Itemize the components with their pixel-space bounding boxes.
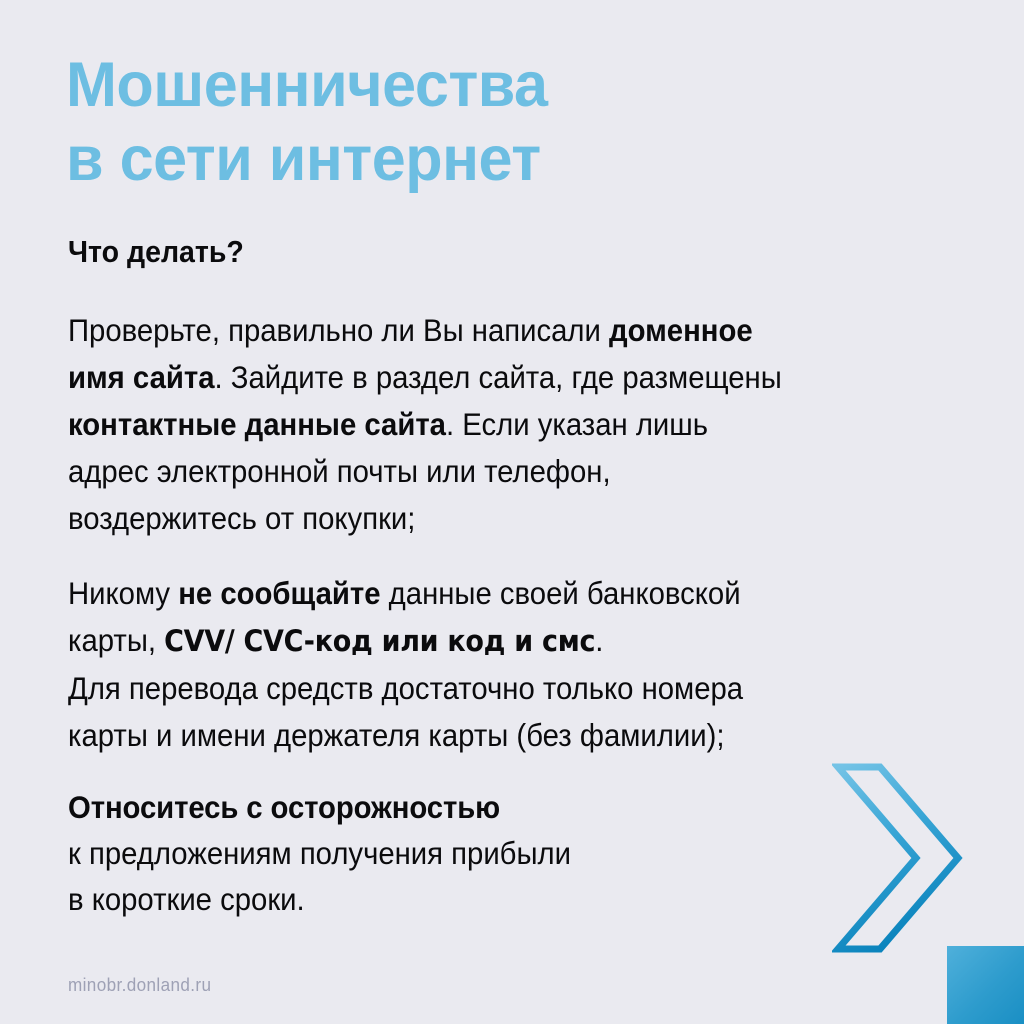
- footer-site-url: minobr.donland.ru: [68, 975, 211, 996]
- p2-l1-text-tail: данные своей банковской: [381, 575, 741, 611]
- advice-paragraph-3: Относитесь с осторожностью к предложения…: [68, 784, 933, 922]
- paragraph-1-line-1: Проверьте, правильно ли Вы написали доме…: [68, 307, 933, 354]
- paragraph-2-line-4: карты и имени держателя карты (без фамил…: [68, 712, 933, 759]
- paragraph-1-line-5: воздержитесь от покупки;: [68, 495, 933, 542]
- p2-l2-emphasis-cvv: CVV/ CVC-код или код и смс: [164, 624, 595, 658]
- poster-title-line-1: Мошенничества: [66, 48, 784, 122]
- poster-title-line-2: в сети интернет: [66, 122, 784, 196]
- paragraph-3-line-3: в короткие сроки.: [68, 876, 933, 922]
- paragraph-1-line-4: адрес электронной почты или телефон,: [68, 448, 933, 495]
- paragraph-2-line-3: Для перевода средств достаточно только н…: [68, 665, 933, 712]
- p1-l2-text: . Зайдите в раздел сайта, где размещены: [215, 359, 782, 395]
- advice-paragraph-2: Никому не сообщайте данные своей банковс…: [68, 570, 933, 759]
- section-subheading: Что делать?: [68, 232, 244, 272]
- p1-l3-text: . Если указан лишь: [446, 406, 708, 442]
- poster-canvas: Мошенничества в сети интернет Что делать…: [0, 0, 1024, 1024]
- p2-l1-text: Никому: [68, 575, 178, 611]
- p2-l2-period: .: [595, 622, 603, 658]
- paragraph-1-line-3: контактные данные сайта. Если указан лиш…: [68, 401, 933, 448]
- p1-l2-emphasis: имя сайта: [68, 359, 215, 395]
- advice-paragraph-1: Проверьте, правильно ли Вы написали доме…: [68, 307, 933, 542]
- paragraph-1-line-2: имя сайта. Зайдите в раздел сайта, где р…: [68, 354, 933, 401]
- p2-l1-emphasis: не сообщайте: [178, 575, 380, 611]
- corner-accent-square: [947, 946, 1024, 1024]
- paragraph-3-line-2: к предложениям получения прибыли: [68, 830, 933, 876]
- p1-l1-text: Проверьте, правильно ли Вы написали: [68, 312, 609, 348]
- poster-title: Мошенничества в сети интернет: [66, 48, 806, 196]
- paragraph-2-line-2: карты, CVV/ CVC-код или код и смс.: [68, 617, 933, 665]
- p2-l2-text: карты,: [68, 622, 164, 658]
- paragraph-3-line-1: Относитесь с осторожностью: [68, 784, 933, 830]
- paragraph-2-line-1: Никому не сообщайте данные своей банковс…: [68, 570, 933, 617]
- p1-l1-emphasis: доменное: [609, 312, 753, 348]
- p1-l3-emphasis: контактные данные сайта: [68, 406, 446, 442]
